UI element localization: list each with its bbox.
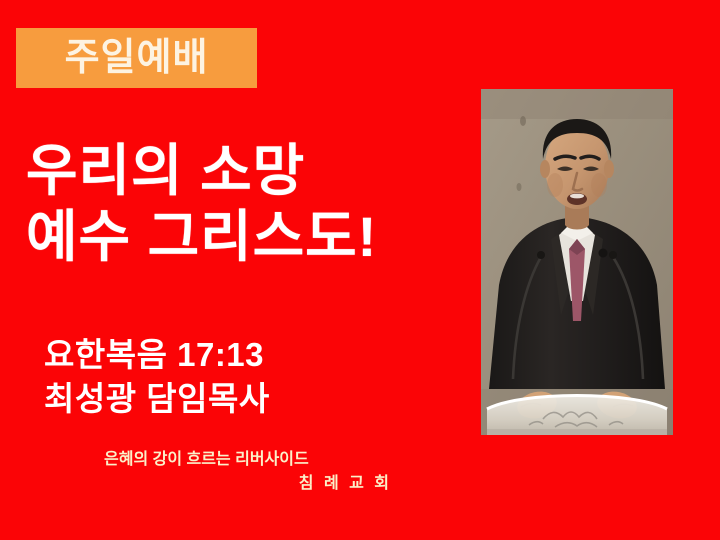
sermon-title: 우리의 소망 예수 그리스도! [26, 138, 456, 270]
speaker-name: 최성광 담임목사 [44, 377, 464, 421]
service-type-badge: 주일예배 [16, 28, 257, 88]
church-name: 은혜의 강이 흐르는 리버사이드 침 례 교 회 [104, 448, 414, 496]
church-name-line-2: 침 례 교 회 [104, 472, 414, 496]
service-type-label: 주일예배 [65, 39, 209, 77]
sermon-title-line-2: 예수 그리스도! [26, 204, 456, 270]
scripture-reference: 요한복음 17:13 [44, 333, 464, 377]
preacher-at-podium-illustration [481, 89, 673, 435]
sermon-slide: 주일예배 우리의 소망 예수 그리스도! 요한복음 17:13 최성광 담임목사… [0, 0, 720, 540]
scripture-and-speaker: 요한복음 17:13 최성광 담임목사 [44, 333, 464, 421]
preacher-photo [481, 89, 673, 435]
sermon-title-line-1: 우리의 소망 [26, 138, 456, 204]
church-name-line-1: 은혜의 강이 흐르는 리버사이드 [104, 448, 414, 472]
